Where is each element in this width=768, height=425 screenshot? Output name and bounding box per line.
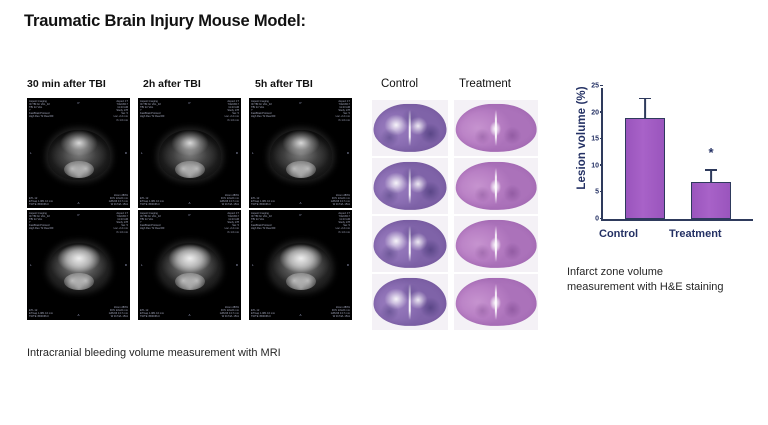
y-axis-tick-5: 5 bbox=[595, 189, 599, 196]
mri-orientation-marker-anterior: A bbox=[77, 201, 79, 205]
mri-brain-slice bbox=[159, 130, 221, 180]
mri-figure: 30 min after TBI 2h after TBI 5h after T… bbox=[27, 78, 358, 323]
midline bbox=[495, 110, 497, 147]
y-axis-tick-mark bbox=[600, 218, 603, 220]
mri-orientation-marker-left: L bbox=[30, 263, 32, 267]
mri-orientation-marker-posterior: P bbox=[77, 101, 79, 105]
histology-slice-control[interactable] bbox=[372, 216, 448, 272]
mri-overlay-bottom-left: ETL 12 ETGap 1.081 10 mm TR/TE 3500/66.0 bbox=[251, 309, 275, 318]
mri-orientation-marker-right: R bbox=[125, 263, 127, 267]
mri-overlay-bottom-right: Zoom 280% FOV 22x22 mm 128x96 0.17 mm W … bbox=[331, 194, 350, 206]
error-bar-control bbox=[644, 99, 646, 118]
x-axis-label-control: Control bbox=[599, 228, 638, 240]
midline bbox=[409, 110, 411, 147]
mri-orientation-marker-left: L bbox=[141, 263, 143, 267]
histology-column-header-treatment: Treatment bbox=[459, 78, 511, 90]
histology-slice-treatment[interactable] bbox=[454, 216, 538, 272]
mri-orientation-marker-left: L bbox=[30, 151, 32, 155]
histology-slice-treatment[interactable] bbox=[454, 158, 538, 214]
histology-slice-control[interactable] bbox=[372, 158, 448, 214]
mri-orientation-marker-right: R bbox=[125, 151, 127, 155]
histology-slice-treatment[interactable] bbox=[454, 274, 538, 330]
mri-overlay-bottom-left: ETL 12 ETGap 1.081 10 mm TR/TE 3500/66.0 bbox=[29, 309, 53, 318]
mri-orientation-marker-left: L bbox=[252, 151, 254, 155]
mri-panel[interactable]: Aspect Imaging ID TBI for VAL_32 TBI for… bbox=[27, 98, 130, 208]
mri-overlay-top-left: Aspect Imaging ID TBI for VAL_32 TBI for… bbox=[251, 100, 276, 119]
mri-orientation-marker-anterior: A bbox=[299, 313, 301, 317]
mri-overlay-top-left: Aspect Imaging ID TBI for VAL_32 TBI for… bbox=[140, 212, 165, 231]
mri-orientation-marker-left: L bbox=[141, 151, 143, 155]
chart-plot-area: Lesion volume (%) 0510152025* Control Tr… bbox=[563, 82, 763, 254]
y-axis-tick-15: 15 bbox=[591, 136, 599, 143]
mri-orientation-marker-posterior: P bbox=[299, 213, 301, 217]
chart-axes: 0510152025* bbox=[601, 88, 753, 221]
mri-overlay-top-left: Aspect Imaging ID TBI for VAL_32 TBI for… bbox=[29, 100, 54, 119]
mri-orientation-marker-right: R bbox=[347, 151, 349, 155]
brain-section bbox=[374, 162, 447, 210]
mri-orientation-marker-posterior: P bbox=[299, 101, 301, 105]
page-title: Traumatic Brain Injury Mouse Model: bbox=[24, 12, 306, 31]
mri-panel[interactable]: Aspect Imaging ID TBI for VAL_32 TBI for… bbox=[249, 210, 352, 320]
brain-section bbox=[456, 278, 537, 326]
midline bbox=[495, 168, 497, 205]
midline bbox=[409, 168, 411, 205]
mri-orientation-marker-right: R bbox=[347, 263, 349, 267]
mri-overlay-bottom-right: Zoom 280% FOV 22x22 mm 128x96 0.17 mm W … bbox=[331, 306, 350, 318]
mri-panel[interactable]: Aspect Imaging ID TBI for VAL_32 TBI for… bbox=[27, 210, 130, 320]
mri-panel[interactable]: Aspect Imaging ID TBI for VAL_32 TBI for… bbox=[249, 98, 352, 208]
significance-marker: * bbox=[708, 146, 713, 159]
mri-orientation-marker-anterior: A bbox=[77, 313, 79, 317]
mri-overlay-top-right: Aspect 1T 7/22/2017 11:23 AM Study 178 S… bbox=[225, 212, 239, 234]
y-axis-tick-20: 20 bbox=[591, 109, 599, 116]
histology-column-headers: Control Treatment bbox=[372, 78, 558, 98]
mri-panel[interactable]: Aspect Imaging ID TBI for VAL_32 TBI for… bbox=[138, 210, 241, 320]
y-axis-tick-25: 25 bbox=[591, 83, 599, 90]
midline bbox=[495, 284, 497, 321]
mri-column-header-2h: 2h after TBI bbox=[143, 78, 201, 90]
y-axis-tick-0: 0 bbox=[595, 216, 599, 223]
chart-caption-line-2: measurement with H&E staining bbox=[567, 280, 767, 295]
mri-brain-slice bbox=[49, 243, 109, 291]
lesion-volume-bar-chart: Lesion volume (%) 0510152025* Control Tr… bbox=[563, 82, 763, 254]
mri-image-grid: Aspect Imaging ID TBI for VAL_32 TBI for… bbox=[27, 98, 358, 323]
mri-overlay-top-left: Aspect Imaging ID TBI for VAL_32 TBI for… bbox=[140, 100, 165, 119]
bar-control[interactable] bbox=[625, 118, 665, 219]
midline bbox=[409, 284, 411, 321]
y-axis-label: Lesion volume (%) bbox=[576, 83, 588, 193]
mri-overlay-bottom-left: ETL 12 ETGap 1.081 10 mm TR/TE 3500/66.0 bbox=[29, 197, 53, 206]
mri-overlay-top-right: Aspect 1T 7/22/2017 11:23 AM Study 178 S… bbox=[336, 212, 350, 234]
mri-overlay-top-right: Aspect 1T 7/22/2017 11:23 AM Study 178 S… bbox=[114, 100, 128, 122]
brain-section bbox=[456, 104, 537, 152]
brain-section bbox=[456, 220, 537, 268]
mri-column-headers: 30 min after TBI 2h after TBI 5h after T… bbox=[27, 78, 358, 98]
y-axis-tick-mark bbox=[600, 111, 603, 113]
mri-overlay-bottom-left: ETL 12 ETGap 1.081 10 mm TR/TE 3500/66.0 bbox=[251, 197, 275, 206]
y-axis-tick-mark bbox=[600, 164, 603, 166]
mri-orientation-marker-right: R bbox=[236, 151, 238, 155]
brain-section bbox=[374, 104, 447, 152]
brain-section bbox=[374, 220, 447, 268]
mri-overlay-bottom-right: Zoom 280% FOV 22x22 mm 128x96 0.17 mm W … bbox=[220, 306, 239, 318]
mri-overlay-bottom-left: ETL 12 ETGap 1.081 10 mm TR/TE 3500/66.0 bbox=[140, 309, 164, 318]
mri-panel[interactable]: Aspect Imaging ID TBI for VAL_32 TBI for… bbox=[138, 98, 241, 208]
x-axis-label-treatment: Treatment bbox=[669, 228, 722, 240]
histology-slice-control[interactable] bbox=[372, 100, 448, 156]
mri-brain-slice bbox=[270, 130, 332, 180]
mri-overlay-top-right: Aspect 1T 7/22/2017 11:23 AM Study 178 S… bbox=[225, 100, 239, 122]
mri-overlay-bottom-right: Zoom 280% FOV 22x22 mm 128x96 0.17 mm W … bbox=[220, 194, 239, 206]
chart-caption: Infarct zone volume measurement with H&E… bbox=[567, 265, 767, 295]
mri-orientation-marker-posterior: P bbox=[188, 213, 190, 217]
mri-orientation-marker-anterior: A bbox=[188, 313, 190, 317]
mri-orientation-marker-anterior: A bbox=[299, 201, 301, 205]
bar-treatment[interactable] bbox=[691, 182, 731, 219]
mri-orientation-marker-anterior: A bbox=[188, 201, 190, 205]
mri-caption: Intracranial bleeding volume measurement… bbox=[27, 347, 281, 359]
y-axis-tick-mark bbox=[600, 191, 603, 193]
histology-image-grid bbox=[372, 100, 558, 330]
mri-column-header-30min: 30 min after TBI bbox=[27, 78, 106, 90]
mri-orientation-marker-posterior: P bbox=[77, 213, 79, 217]
mri-brain-slice bbox=[48, 130, 110, 180]
error-bar-cap-control bbox=[639, 98, 651, 100]
mri-overlay-top-right: Aspect 1T 7/22/2017 11:23 AM Study 178 S… bbox=[114, 212, 128, 234]
chart-caption-line-1: Infarct zone volume bbox=[567, 265, 767, 280]
histology-slice-control[interactable] bbox=[372, 274, 448, 330]
mri-overlay-bottom-left: ETL 12 ETGap 1.081 10 mm TR/TE 3500/66.0 bbox=[140, 197, 164, 206]
mri-column-header-5h: 5h after TBI bbox=[255, 78, 313, 90]
mri-overlay-top-right: Aspect 1T 7/22/2017 11:23 AM Study 178 S… bbox=[336, 100, 350, 122]
y-axis-tick-mark bbox=[600, 138, 603, 140]
histology-column-header-control: Control bbox=[381, 78, 418, 90]
histology-figure: Control Treatment bbox=[372, 78, 558, 330]
y-axis-tick-10: 10 bbox=[591, 162, 599, 169]
error-bar-treatment bbox=[710, 171, 712, 182]
y-axis-tick-mark bbox=[600, 85, 603, 87]
mri-overlay-bottom-right: Zoom 280% FOV 22x22 mm 128x96 0.17 mm W … bbox=[109, 306, 128, 318]
mri-brain-slice bbox=[271, 243, 331, 291]
mri-overlay-top-left: Aspect Imaging ID TBI for VAL_32 TBI for… bbox=[251, 212, 276, 231]
mri-brain-slice bbox=[160, 243, 220, 291]
mri-overlay-top-left: Aspect Imaging ID TBI for VAL_32 TBI for… bbox=[29, 212, 54, 231]
mri-orientation-marker-left: L bbox=[252, 263, 254, 267]
brain-section bbox=[374, 278, 447, 326]
brain-section bbox=[456, 162, 537, 210]
midline bbox=[495, 226, 497, 263]
mri-overlay-bottom-right: Zoom 280% FOV 22x22 mm 128x96 0.17 mm W … bbox=[109, 194, 128, 206]
mri-orientation-marker-right: R bbox=[236, 263, 238, 267]
histology-slice-treatment[interactable] bbox=[454, 100, 538, 156]
midline bbox=[409, 226, 411, 263]
error-bar-cap-treatment bbox=[705, 169, 717, 171]
mri-orientation-marker-posterior: P bbox=[188, 101, 190, 105]
